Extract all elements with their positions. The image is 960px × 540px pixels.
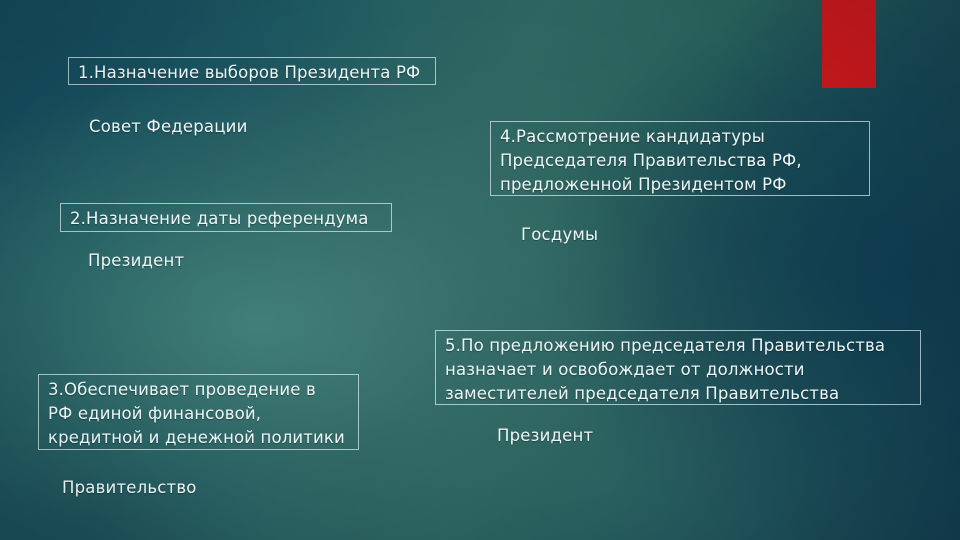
question-box-2: 2.Назначение даты референдума [60,203,392,232]
question-box-1: 1.Назначение выборов Президента РФ [68,57,436,85]
answer-label-3: Правительство [62,477,197,499]
question-box-3: 3.Обеспечивает проведение в РФ единой фи… [38,374,359,450]
question-box-4: 4.Рассмотрение кандидатуры Председателя … [490,121,870,196]
question-box-5: 5.По предложению председателя Правительс… [435,330,921,405]
presentation-slide: 1.Назначение выборов Президента РФ Совет… [0,0,960,540]
answer-label-2: Президент [88,250,184,272]
red-accent-bar [822,0,876,88]
answer-label-1: Совет Федерации [89,116,248,138]
answer-label-4: Госдумы [521,224,598,246]
answer-label-5: Президент [497,425,593,447]
